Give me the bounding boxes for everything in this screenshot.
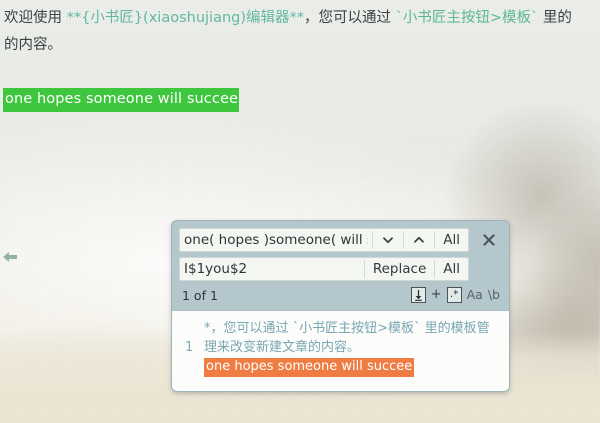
left-arrow-marker-icon [2,250,18,264]
document-line-2: 的内容。 [0,32,600,59]
replace-input[interactable] [180,258,364,280]
regex-toggle[interactable]: .* [447,287,462,303]
line1-prefix: 欢迎使用 [4,10,67,26]
preserve-case-toggle[interactable] [411,287,426,303]
whole-word-toggle[interactable]: \b [488,287,500,303]
line1-middle: ，您可以通过 [304,10,396,26]
replace-all-button[interactable]: All [435,258,468,280]
line1-inline-code: `小书匠主按钮>模板` [396,10,539,26]
results-preview-pane[interactable]: 1 *，您可以通过 `小书匠主按钮>模板` 里的模板管 理来改变新建文章的内容。… [172,310,509,391]
document-line-1: 欢迎使用 **{小书匠}(xiaoshujiang)编辑器**，您可以通过 `小… [0,0,600,32]
match-case-toggle[interactable]: Aa [467,287,483,303]
find-next-button[interactable] [373,229,403,251]
editor-document[interactable]: 欢迎使用 **{小书匠}(xiaoshujiang)编辑器**，您可以通过 `小… [0,0,600,59]
preview-match-line: one hopes someone will succee [204,357,503,377]
line1-suffix: 里的 [538,10,572,26]
regex-glyph: .* [450,290,458,300]
replace-field-group[interactable]: Replace All [179,257,469,281]
find-row: All [179,228,502,252]
option-toggles: + .* Aa \b [411,287,502,303]
preview-match-highlight: one hopes someone will succee [204,358,414,377]
preview-text-line-1: *，您可以通过 `小书匠主按钮>模板` 里的模板管 [204,319,503,338]
line1-bold-accent: **{小书匠}(xiaoshujiang)编辑器** [67,10,304,26]
match-count-status: 1 of 1 [179,288,218,303]
find-all-button[interactable]: All [435,229,468,251]
replace-button[interactable]: Replace [365,258,434,280]
find-field-group[interactable]: All [179,228,469,252]
find-previous-button[interactable] [404,229,434,251]
preview-body: *，您可以通过 `小书匠主按钮>模板` 里的模板管 理来改变新建文章的内容。 o… [204,319,503,377]
preview-row: 1 *，您可以通过 `小书匠主按钮>模板` 里的模板管 理来改变新建文章的内容。… [178,319,503,377]
match-case-label: Aa [467,287,483,303]
find-replace-dialog[interactable]: All Replace All 1 of 1 [171,220,510,392]
plus-separator: + [431,287,442,303]
preview-line-number: 1 [178,319,204,357]
document-selection-highlight: one hopes someone will succee [3,88,239,112]
whole-word-label: \b [488,287,500,303]
preview-text-line-2: 理来改变新建文章的内容。 [204,338,503,357]
screen: 欢迎使用 **{小书匠}(xiaoshujiang)编辑器**，您可以通过 `小… [0,0,600,423]
search-input[interactable] [180,229,372,251]
replace-row: Replace All [179,257,502,281]
status-row: 1 of 1 + .* Aa \b [179,284,502,306]
close-icon[interactable] [476,229,502,251]
